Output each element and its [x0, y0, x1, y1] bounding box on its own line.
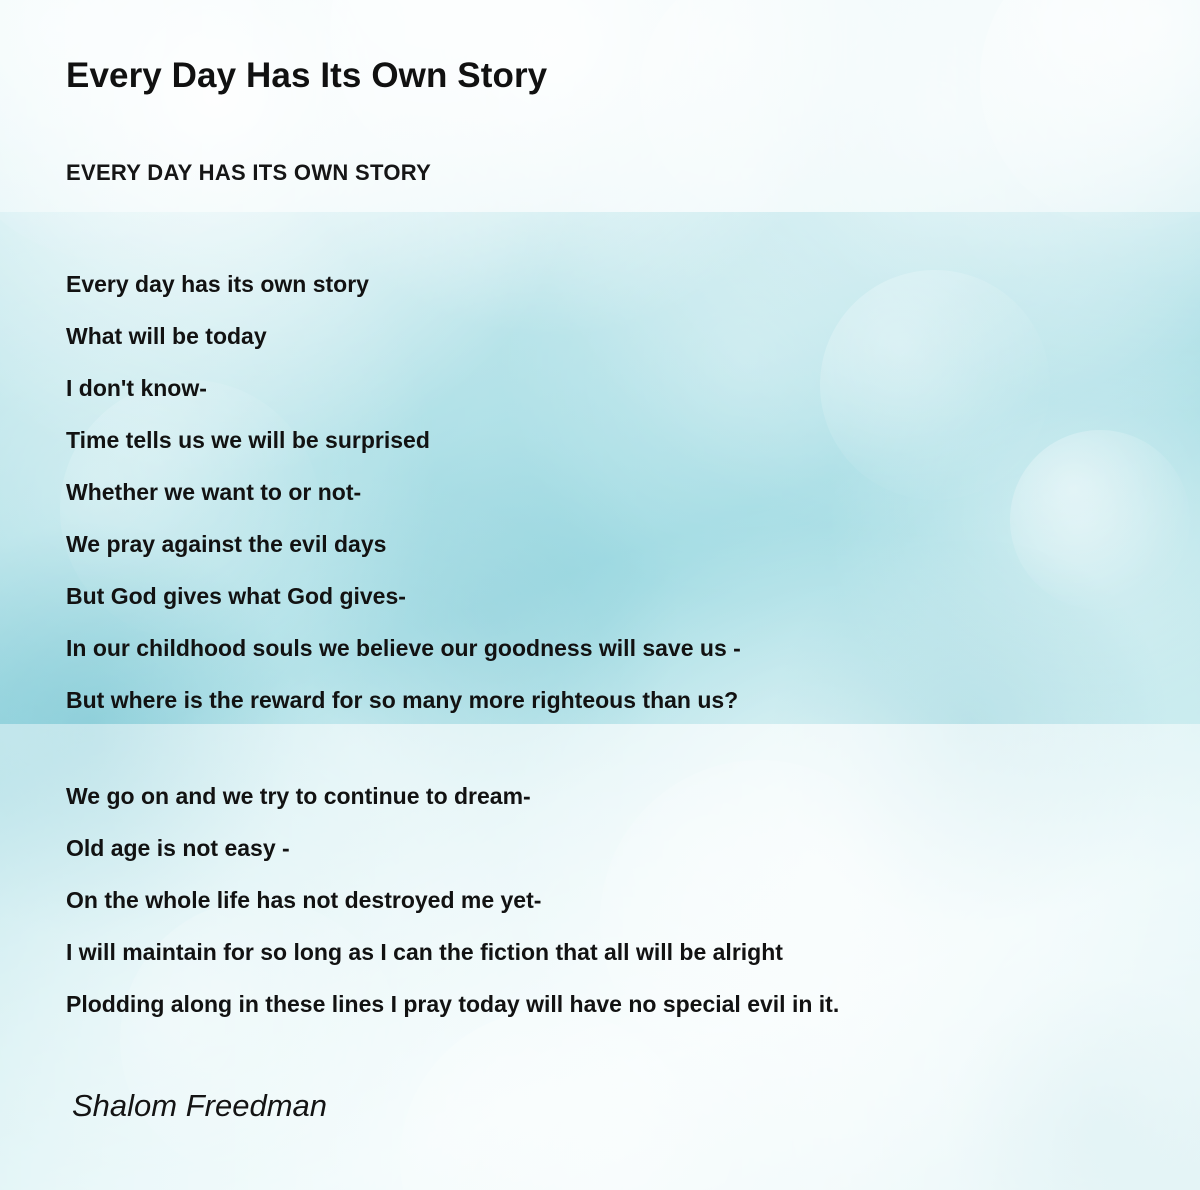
- poem-line: But where is the reward for so many more…: [66, 674, 1136, 726]
- poem-content: Every Day Has Its Own Story EVERY DAY HA…: [0, 0, 1200, 1190]
- poem-title: Every Day Has Its Own Story: [66, 56, 547, 96]
- poem-line: We pray against the evil days: [66, 518, 1136, 570]
- poem-line: Plodding along in these lines I pray tod…: [66, 978, 1136, 1030]
- poem-page: Every Day Has Its Own Story EVERY DAY HA…: [0, 0, 1200, 1190]
- poem-line: Time tells us we will be surprised: [66, 414, 1136, 466]
- poem-body: Every day has its own story What will be…: [66, 258, 1136, 1030]
- poem-line: We go on and we try to continue to dream…: [66, 770, 1136, 822]
- poem-line: But God gives what God gives-: [66, 570, 1136, 622]
- poem-author: Shalom Freedman: [72, 1088, 327, 1124]
- poem-line: I don't know-: [66, 362, 1136, 414]
- poem-line: I will maintain for so long as I can the…: [66, 926, 1136, 978]
- poem-line: Old age is not easy -: [66, 822, 1136, 874]
- poem-heading: EVERY DAY HAS ITS OWN STORY: [66, 160, 431, 186]
- poem-line: On the whole life has not destroyed me y…: [66, 874, 1136, 926]
- poem-stanza: We go on and we try to continue to dream…: [66, 770, 1136, 1030]
- poem-line: In our childhood souls we believe our go…: [66, 622, 1136, 674]
- poem-line: Whether we want to or not-: [66, 466, 1136, 518]
- poem-line: Every day has its own story: [66, 258, 1136, 310]
- poem-line: What will be today: [66, 310, 1136, 362]
- poem-stanza: Every day has its own story What will be…: [66, 258, 1136, 726]
